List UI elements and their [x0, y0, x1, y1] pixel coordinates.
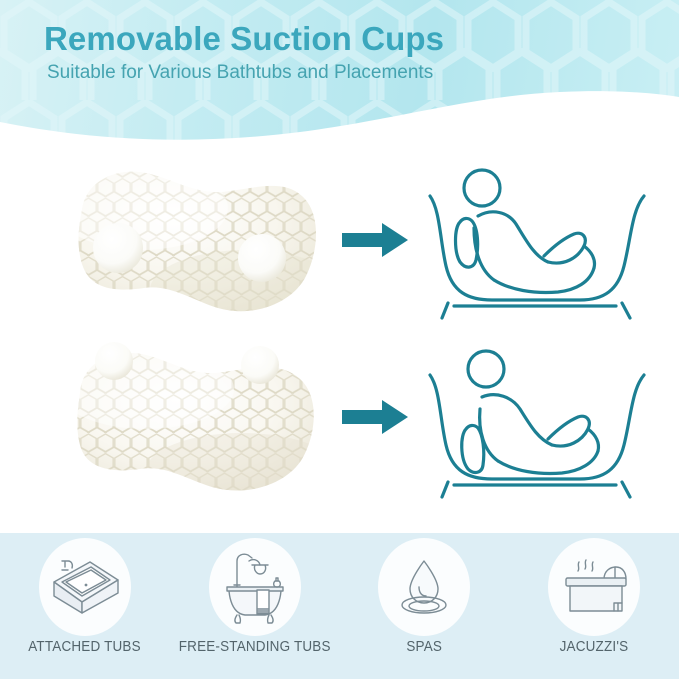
tub-type-free-standing[interactable]: FREE-STANDING TUBS [173, 539, 337, 655]
suction-cup [93, 223, 143, 273]
tub-type-jacuzzi[interactable]: JACUZZI'S [512, 539, 676, 655]
person-reclining-in-bathtub-lower-back-support [412, 343, 662, 503]
tub-type-spas[interactable]: SPAS [342, 539, 506, 655]
main-content [0, 150, 679, 533]
page-subtitle: Suitable for Various Bathtubs and Placem… [47, 62, 444, 84]
person-reclining-in-bathtub-upper-back-support [412, 166, 662, 326]
tub-type-label: SPAS [407, 639, 443, 655]
header-text-block: Removable Suction Cups Suitable for Vari… [44, 20, 444, 84]
bath-pillow-illustration [46, 335, 346, 510]
hot-tub-steam-icon [546, 539, 642, 635]
tub-type-label: FREE-STANDING TUBS [179, 639, 331, 655]
product-infographic: Removable Suction Cups Suitable for Vari… [0, 0, 679, 679]
bath-pillow-suction-cups-top-edge [46, 335, 346, 510]
arrow-right-icon [342, 220, 412, 260]
tub-type-label: JACUZZI'S [560, 639, 629, 655]
header-banner: Removable Suction Cups Suitable for Vari… [0, 0, 679, 150]
arrow-right-icon [342, 397, 412, 437]
bathtub-person-illustration [412, 343, 662, 503]
page-title: Removable Suction Cups [44, 20, 444, 58]
arrow-right [342, 397, 412, 437]
bath-pillow-illustration [46, 158, 346, 333]
bath-pillow-suction-cups-center [46, 158, 346, 333]
attached-bathtub-icon [37, 539, 133, 635]
tub-type-attached[interactable]: ATTACHED TUBS [3, 539, 167, 655]
arrow-right [342, 220, 412, 260]
tub-type-label: ATTACHED TUBS [29, 639, 142, 655]
suction-cup [95, 342, 133, 380]
free-standing-clawfoot-tub-icon [207, 539, 303, 635]
tub-type-list: ATTACHED TUBS [0, 533, 679, 679]
placement-row-upper [0, 158, 679, 333]
compatible-tubs-band: ATTACHED TUBS [0, 533, 679, 679]
suction-cup [241, 346, 279, 384]
water-droplet-ripple-icon [376, 539, 472, 635]
suction-cup [238, 234, 286, 282]
placement-row-lower [0, 335, 679, 510]
bathtub-person-illustration [412, 166, 662, 326]
